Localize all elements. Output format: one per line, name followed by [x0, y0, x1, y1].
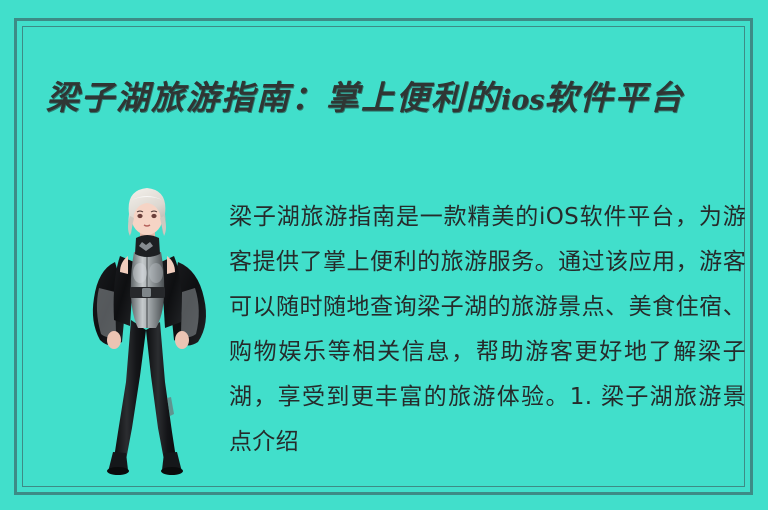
card-content: 梁子湖旅游指南是一款精美的iOS软件平台，为游客提供了掌上便利的旅游服务。通过该… — [46, 168, 746, 480]
belt-buckle — [142, 288, 151, 297]
page-title-brand: ios — [501, 85, 544, 116]
leg-right — [146, 322, 176, 460]
hand-right — [175, 331, 189, 349]
eye-right — [151, 214, 156, 218]
page-title-tail: 软件平台 — [544, 78, 684, 117]
article-body: 梁子湖旅游指南是一款精美的iOS软件平台，为游客提供了掌上便利的旅游服务。通过该… — [229, 195, 746, 495]
page-title-main: 梁子湖旅游指南：掌上便利的 — [46, 78, 501, 117]
article-card: 梁子湖旅游指南：掌上便利的ios软件平台 — [0, 0, 768, 510]
hand-left — [107, 331, 121, 349]
character-illustration — [68, 170, 236, 476]
page-title: 梁子湖旅游指南：掌上便利的ios软件平台 — [46, 74, 746, 125]
eye-left — [137, 214, 142, 218]
